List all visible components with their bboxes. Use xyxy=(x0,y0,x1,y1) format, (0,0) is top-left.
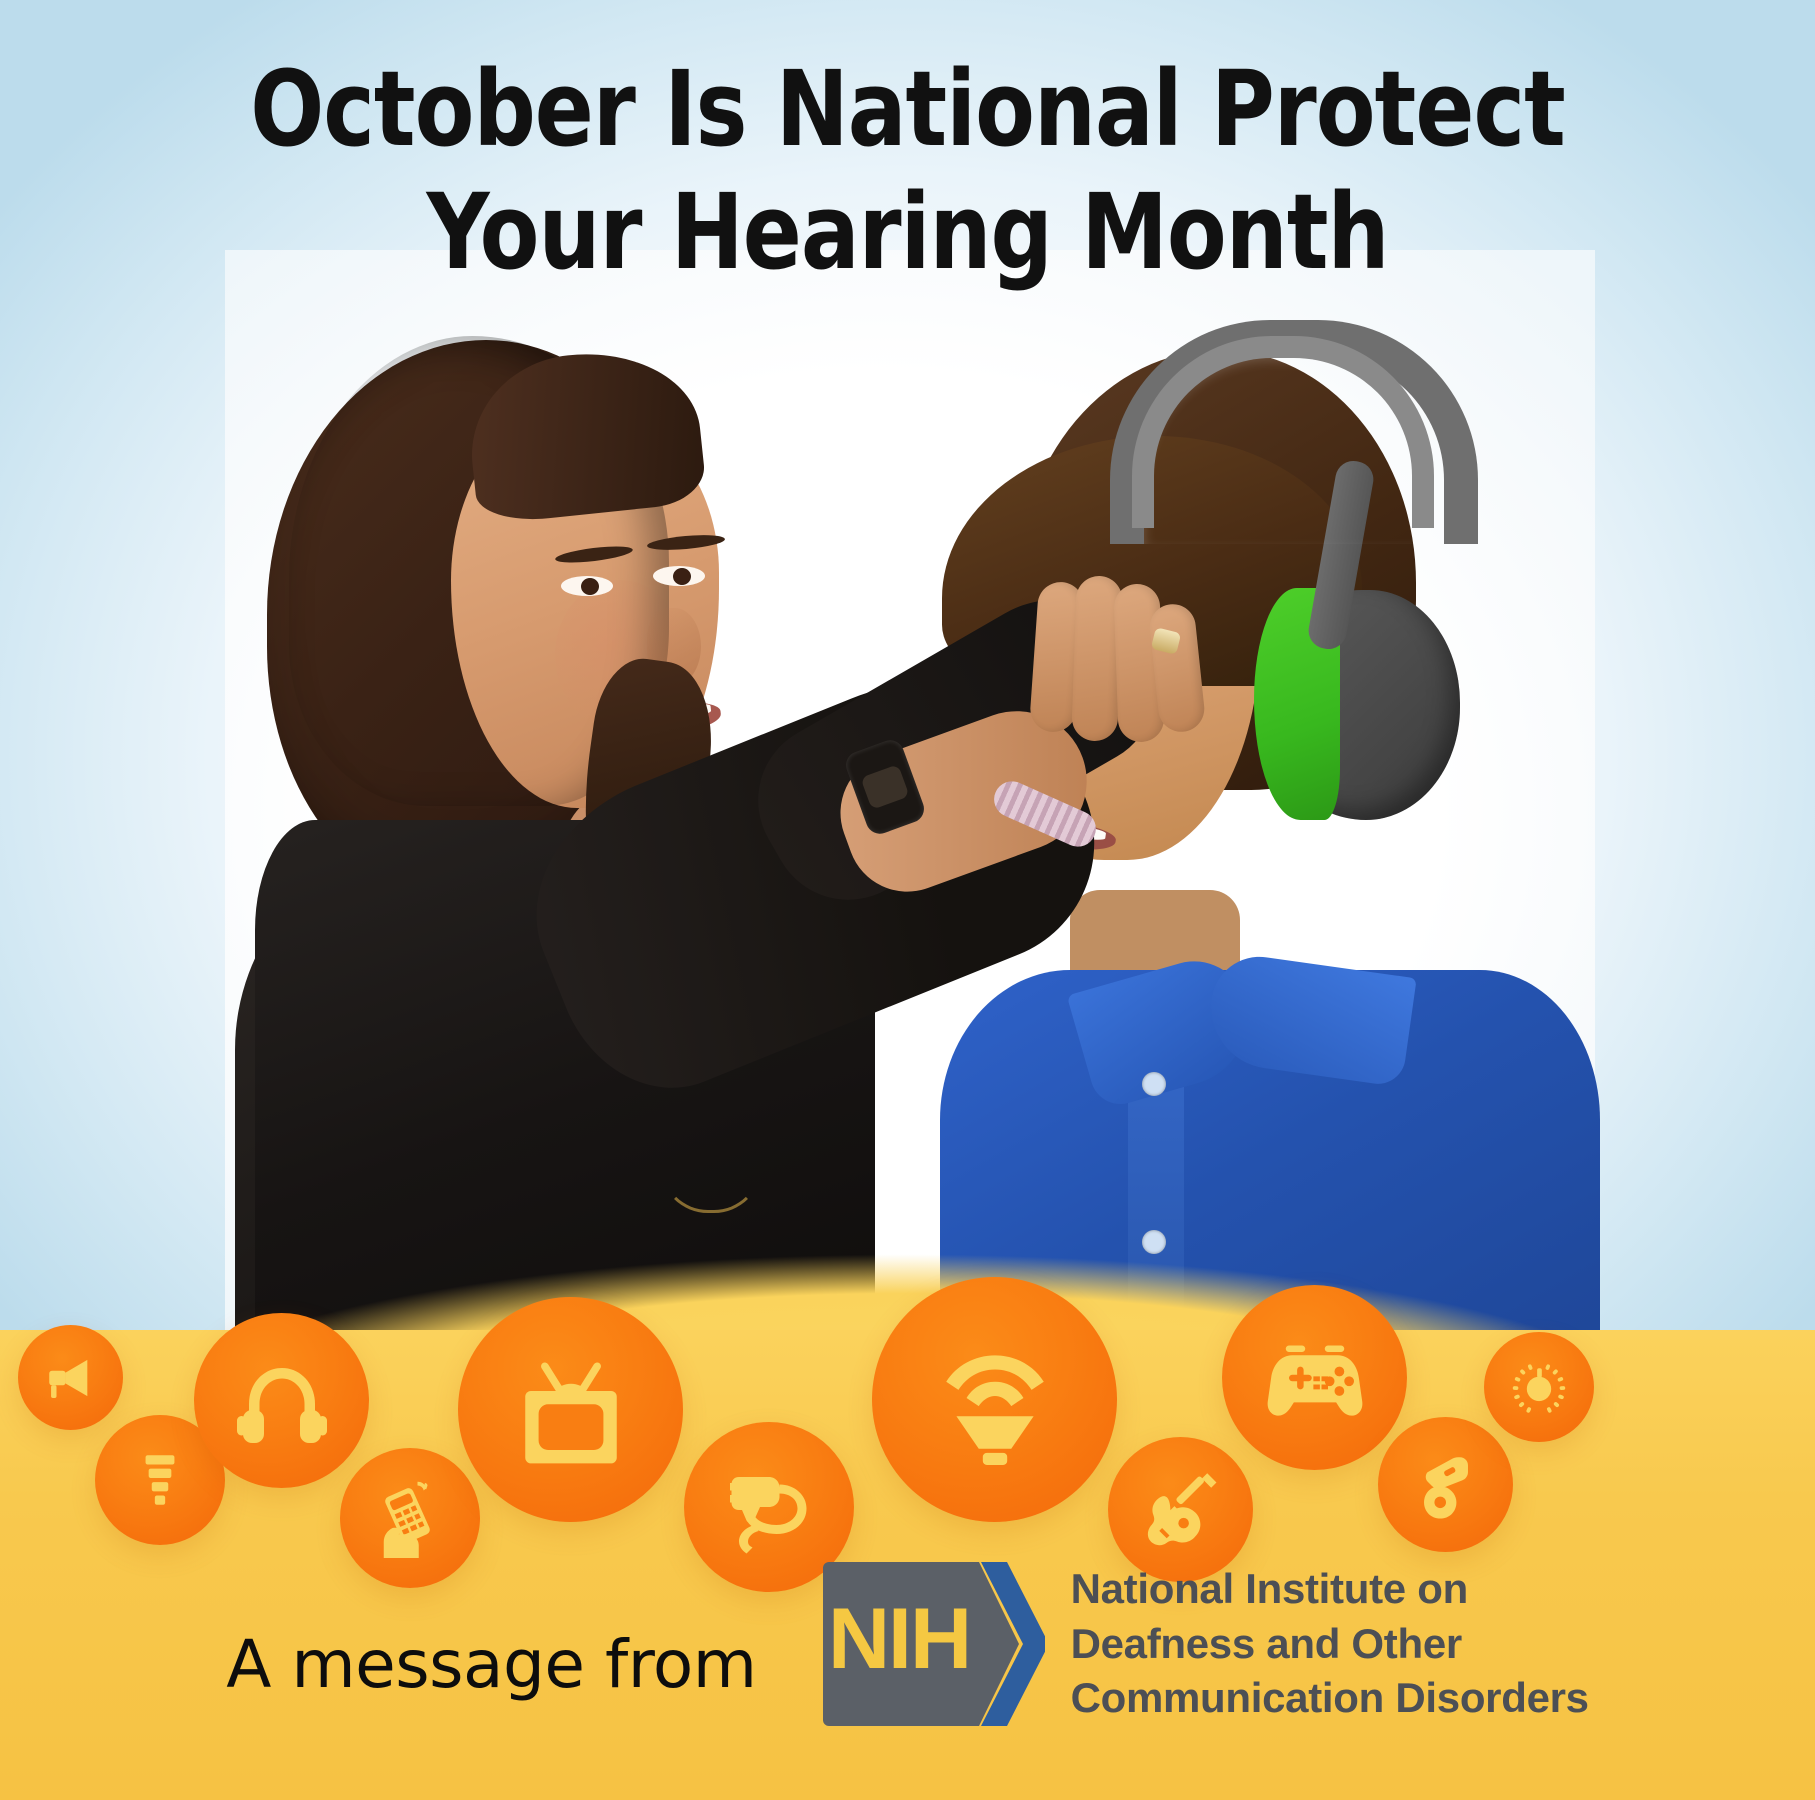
headphones-icon xyxy=(194,1313,369,1488)
woman-fingers xyxy=(1030,582,1190,832)
nidcd-line-2: Deafness and Other xyxy=(1071,1617,1589,1672)
message-from-label: A message from xyxy=(226,1626,756,1703)
megaphone-icon xyxy=(18,1325,123,1430)
speaker-waves-icon xyxy=(872,1277,1117,1522)
poster-canvas: October Is National Protect Your Hearing… xyxy=(0,0,1815,1800)
nidcd-line-3: Communication Disorders xyxy=(1071,1671,1589,1726)
woman-eye xyxy=(561,576,613,596)
footer: A message from NIH National Institute on… xyxy=(0,1500,1815,1800)
woman-pupil xyxy=(673,568,691,585)
watch-face xyxy=(860,764,909,810)
nidcd-logo-text: National Institute on Deafness and Other… xyxy=(1071,1562,1589,1726)
nidcd-logo: NIH National Institute on Deafness and O… xyxy=(823,1550,1589,1738)
television-icon xyxy=(458,1297,683,1522)
nidcd-line-1: National Institute on xyxy=(1071,1562,1589,1617)
woman-eye xyxy=(653,566,705,586)
woman-necklace-lower xyxy=(660,1070,762,1213)
svg-text:NIH: NIH xyxy=(828,1591,970,1687)
game-controller-icon xyxy=(1222,1285,1407,1470)
woman-pupil xyxy=(581,578,599,595)
volume-knob-icon xyxy=(1484,1332,1594,1442)
boy-shirt-button xyxy=(1142,1072,1166,1096)
nih-logomark: NIH xyxy=(823,1550,1045,1738)
